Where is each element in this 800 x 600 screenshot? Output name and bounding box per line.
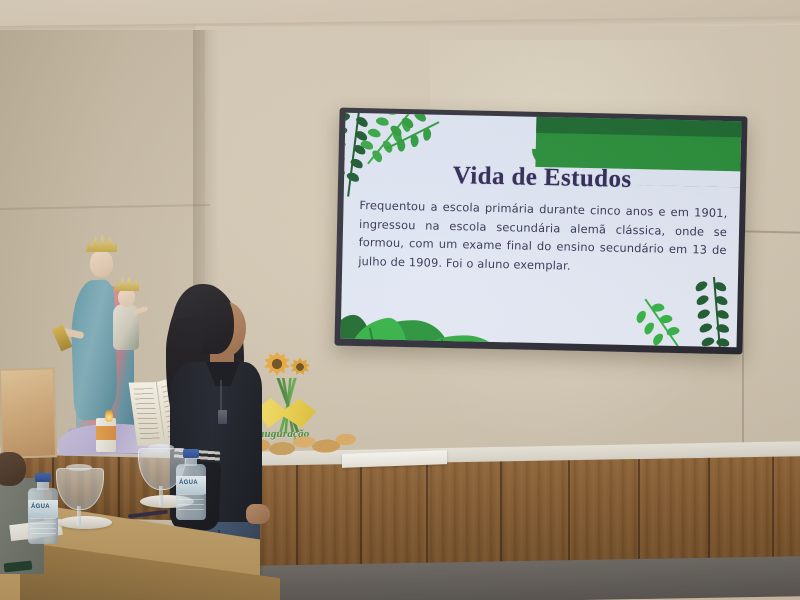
cabinet-seam	[426, 463, 428, 573]
presenter-hand	[246, 504, 270, 524]
fern-sprig-br-dark-icon	[704, 276, 730, 347]
sunflower-icon	[290, 358, 310, 376]
fern-leaflet	[651, 303, 665, 312]
statue-head	[90, 250, 113, 277]
cabinet-seam	[708, 458, 710, 568]
wine-glass-inverted[interactable]	[56, 468, 102, 530]
bottle-label-text: ÁGUA	[31, 504, 50, 510]
child-crown-icon	[114, 276, 139, 291]
bottle-cap[interactable]	[35, 473, 51, 482]
glass-bowl	[56, 468, 104, 510]
glass-stem	[77, 506, 81, 526]
bottle-label: ÁGUA	[176, 476, 206, 494]
cabinet-seam	[772, 457, 774, 567]
tv-bezel: Vida de Estudos Frequentou a escola prim…	[334, 108, 747, 355]
tv-screen: Vida de Estudos Frequentou a escola prim…	[341, 113, 742, 348]
statue-crown-icon	[86, 234, 117, 252]
fern-leaflet	[341, 113, 351, 124]
fern-leaflet	[423, 128, 431, 141]
fern-leaflet	[698, 322, 713, 334]
bottle-label: ÁGUA	[28, 500, 58, 518]
christ-child	[110, 274, 142, 352]
shelf-seam	[118, 457, 120, 519]
fern-leaflet	[700, 336, 715, 347]
wall-mounted-tv[interactable]: Vida de Estudos Frequentou a escola prim…	[334, 108, 747, 355]
fern-leaflet	[659, 314, 673, 324]
poster-script-text	[5, 391, 49, 403]
decorated-poster	[0, 367, 57, 458]
attendee-head	[0, 452, 26, 486]
glass-stem	[159, 486, 163, 506]
cabinet-seam	[296, 465, 298, 575]
cabinet-seam	[500, 461, 502, 571]
slide-body-text: Frequentou a escola primária durante cin…	[358, 196, 728, 278]
fern-leaflet	[651, 332, 665, 347]
candle-flame-icon	[105, 408, 113, 422]
fern-leaflet	[642, 321, 656, 336]
fern-leaflet	[367, 127, 382, 138]
shirt-badge	[218, 410, 227, 424]
fern-leaflet	[341, 125, 349, 136]
bottle-label-text: ÁGUA	[179, 480, 198, 486]
fern-leaflet	[384, 113, 398, 116]
bottle-cap[interactable]	[183, 449, 199, 458]
cabinet-seam	[568, 460, 570, 570]
fern-leaflet	[341, 139, 347, 150]
book-text-lines	[133, 388, 159, 440]
fern-leaflet	[666, 326, 681, 337]
fern-sprig-br-light-icon	[637, 294, 689, 348]
candle-label	[96, 426, 116, 440]
fern-leaflet	[635, 309, 648, 324]
photo-scene: Vida de Estudos Frequentou a escola prim…	[0, 0, 800, 600]
pillar-candle	[96, 418, 116, 452]
cabinet-seam	[638, 459, 640, 569]
water-bottle[interactable]: ÁGUA	[176, 450, 206, 520]
fern-leaflet	[695, 293, 710, 307]
fern-leaflet	[696, 307, 711, 320]
water-bottle[interactable]: ÁGUA	[28, 474, 58, 544]
tropical-leaves-bottom-left-icon	[341, 282, 508, 347]
cabinet-seam	[360, 464, 362, 574]
fern-leaflet	[375, 116, 389, 127]
fern-leaflet	[410, 134, 419, 147]
fern-leaflet	[694, 279, 709, 293]
